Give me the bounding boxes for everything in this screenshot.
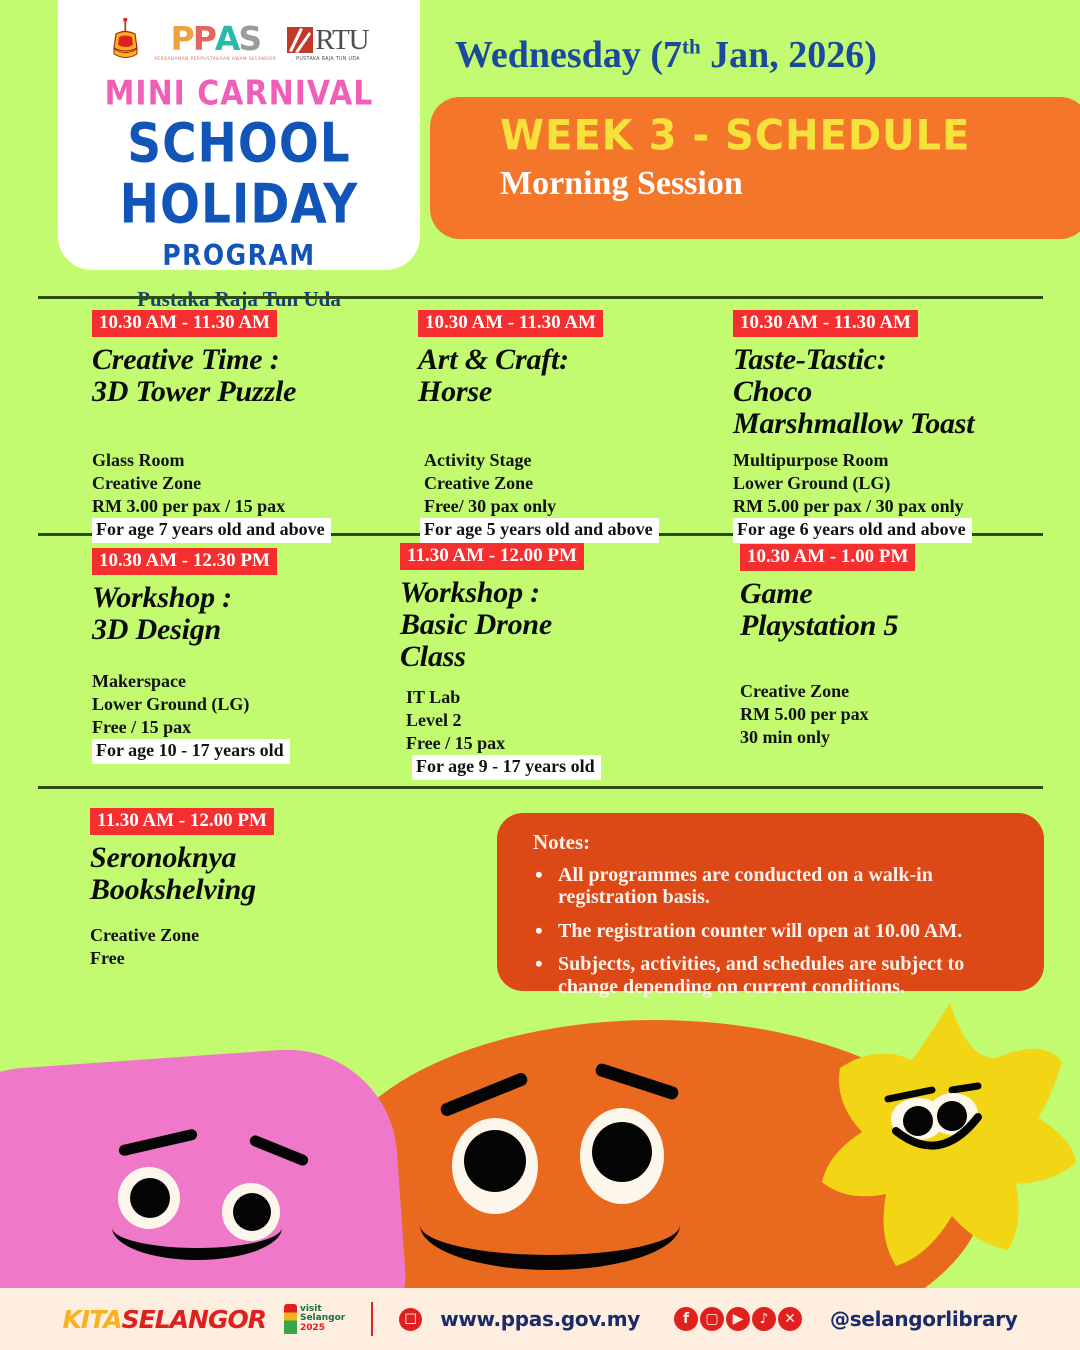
zone: Creative Zone [424,472,708,495]
globe-icon: ◻ [399,1308,422,1331]
note-item: The registration counter will open at 10… [533,920,1018,942]
kita-selangor-logo: KITASELANGOR [63,1305,266,1334]
time-badge: 11.30 AM - 12.00 PM [400,543,584,570]
institution-logos: PPAS PERBADANAN PERPUSTAKAAN AWAM SELANG… [109,18,368,62]
brand-logo-card: PPAS PERBADANAN PERPUSTAKAAN AWAM SELANG… [58,0,420,270]
x-icon[interactable]: ✕ [778,1307,802,1331]
price: 30 min only [740,726,1040,749]
date-suffix: Jan, 2026) [701,34,877,76]
zone: Lower Ground (LG) [92,693,392,716]
library-name: Pustaka Raja Tun Uda [137,287,341,312]
program-word: PROGRAM [162,239,315,272]
zone: Level 2 [406,709,680,732]
venue: Creative Zone [90,924,420,947]
orange-smile-icon [420,1180,680,1270]
visit-selangor-logo: visit Selangor 2025 [284,1304,345,1334]
price: Free / 15 pax [92,716,392,739]
social-icons: f ▢ ▶ ♪ ✕ [674,1307,802,1331]
yellow-star-character [800,998,1080,1288]
visit-text: visit Selangor 2025 [300,1305,345,1333]
venue: Glass Room [92,449,392,472]
zone: RM 5.00 per pax [740,703,1040,726]
activity-details: IT Lab Level 2 Free / 15 pax [406,686,680,755]
mini-carnival-label: MINI CARNIVAL [105,74,374,114]
notes-panel: Notes: All programmes are conducted on a… [497,813,1044,991]
youtube-icon[interactable]: ▶ [726,1307,750,1331]
ppas-logo: PPAS PERBADANAN PERPUSTAKAAN AWAM SELANG… [154,22,276,62]
school-word: SCHOOL [127,116,351,172]
pink-smile-icon [112,1195,282,1260]
event-date: Wednesday (7th Jan, 2026) [455,33,877,77]
notes-list: All programmes are conducted on a walk-i… [533,864,1018,998]
activity-card[interactable]: 10.30 AM - 11.30 AM Art & Craft: Horse A… [418,310,708,543]
activity-details: Multipurpose Room Lower Ground (LG) RM 5… [733,449,1043,518]
time-badge: 10.30 AM - 1.00 PM [740,544,915,571]
time-badge: 10.30 AM - 11.30 AM [733,310,918,337]
zone: Free [90,947,420,970]
age-badge: For age 6 years old and above [733,518,972,543]
activity-details: Creative Zone Free [90,924,420,970]
age-badge: For age 7 years old and above [92,518,331,543]
instagram-icon[interactable]: ▢ [700,1307,724,1331]
price: Free / 15 pax [406,732,680,755]
kita-word: KITA [63,1305,122,1334]
date-prefix: Wednesday (7 [455,34,682,76]
activity-title: Workshop : 3D Design [92,582,392,646]
time-badge: 10.30 AM - 11.30 AM [92,310,277,337]
holiday-word: HOLIDAY [120,177,359,233]
activity-title: Art & Craft: Horse [418,344,708,408]
week-label: WEEK 3 - SCHEDULE [500,112,1080,160]
row-divider-1 [38,296,1043,299]
activity-card[interactable]: 11.30 AM - 12.00 PM Workshop : Basic Dro… [400,543,680,780]
price: RM 5.00 per pax / 30 pax only [733,495,1043,518]
orange-pupil-right-icon [592,1122,652,1182]
rtu-subtitle: PUSTAKA RAJA TUN UDA [296,57,360,62]
time-badge: 10.30 AM - 12.30 PM [92,548,277,575]
tiktok-icon[interactable]: ♪ [752,1307,776,1331]
facebook-icon[interactable]: f [674,1307,698,1331]
venue: Multipurpose Room [733,449,1043,472]
social-handle[interactable]: @selangorlibrary [830,1307,1017,1331]
activity-title: Game Playstation 5 [740,578,1040,642]
time-badge: 11.30 AM - 12.00 PM [90,808,274,835]
age-badge: For age 9 - 17 years old [412,755,601,780]
schedule-banner: WEEK 3 - SCHEDULE Morning Session [430,97,1080,239]
activity-card[interactable]: 10.30 AM - 12.30 PM Workshop : 3D Design… [92,548,392,764]
venue: IT Lab [406,686,680,709]
activity-card[interactable]: 10.30 AM - 1.00 PM Game Playstation 5 Cr… [740,544,1040,749]
activity-details: Activity Stage Creative Zone Free/ 30 pa… [424,449,708,518]
ppas-wordmark: PPAS [171,22,261,55]
character-illustrations [0,990,1080,1290]
activity-title: Workshop : Basic Drone Class [400,577,680,673]
venue: Creative Zone [740,680,1040,703]
notes-title: Notes: [533,830,1018,855]
website-url[interactable]: www.ppas.gov.my [440,1307,640,1331]
activity-details: Makerspace Lower Ground (LG) Free / 15 p… [92,670,392,739]
activity-title: Taste-Tastic: Choco Marshmallow Toast [733,344,1043,440]
note-item: All programmes are conducted on a walk-i… [533,864,1018,909]
activity-card[interactable]: 10.30 AM - 11.30 AM Creative Time : 3D T… [92,310,392,543]
venue: Activity Stage [424,449,708,472]
tower-icon [284,1304,297,1334]
zone: Creative Zone [92,472,392,495]
rtu-mark: RTU [287,26,368,54]
rtu-letters: RTU [315,27,368,53]
age-badge: For age 10 - 17 years old [92,739,290,764]
zone: Lower Ground (LG) [733,472,1043,495]
footer-bar: KITASELANGOR visit Selangor 2025 ◻ www.p… [0,1288,1080,1350]
selangor-crest-icon [109,18,143,62]
date-ordinal: th [682,34,701,58]
time-badge: 10.30 AM - 11.30 AM [418,310,603,337]
row-divider-3 [38,786,1043,789]
rtu-rays-icon [287,26,313,54]
activity-title: Creative Time : 3D Tower Puzzle [92,344,392,408]
price: RM 3.00 per pax / 15 pax [92,495,392,518]
footer-separator [371,1302,373,1336]
activity-details: Creative Zone RM 5.00 per pax 30 min onl… [740,680,1040,749]
session-label: Morning Session [500,165,1080,203]
activity-details: Glass Room Creative Zone RM 3.00 per pax… [92,449,392,518]
selangor-word: SELANGOR [122,1305,266,1334]
poster-header: PPAS PERBADANAN PERPUSTAKAAN AWAM SELANG… [0,0,1080,275]
ppas-subtitle: PERBADANAN PERPUSTAKAAN AWAM SELANGOR [154,57,276,62]
venue: Makerspace [92,670,392,693]
price: Free/ 30 pax only [424,495,708,518]
activity-title: Seronoknya Bookshelving [90,842,420,906]
age-badge: For age 5 years old and above [420,518,659,543]
rtu-logo: RTU PUSTAKA RAJA TUN UDA [287,26,368,62]
activity-card[interactable]: 10.30 AM - 11.30 AM Taste-Tastic: Choco … [733,310,1043,543]
activity-card[interactable]: 11.30 AM - 12.00 PM Seronoknya Bookshelv… [90,808,420,970]
